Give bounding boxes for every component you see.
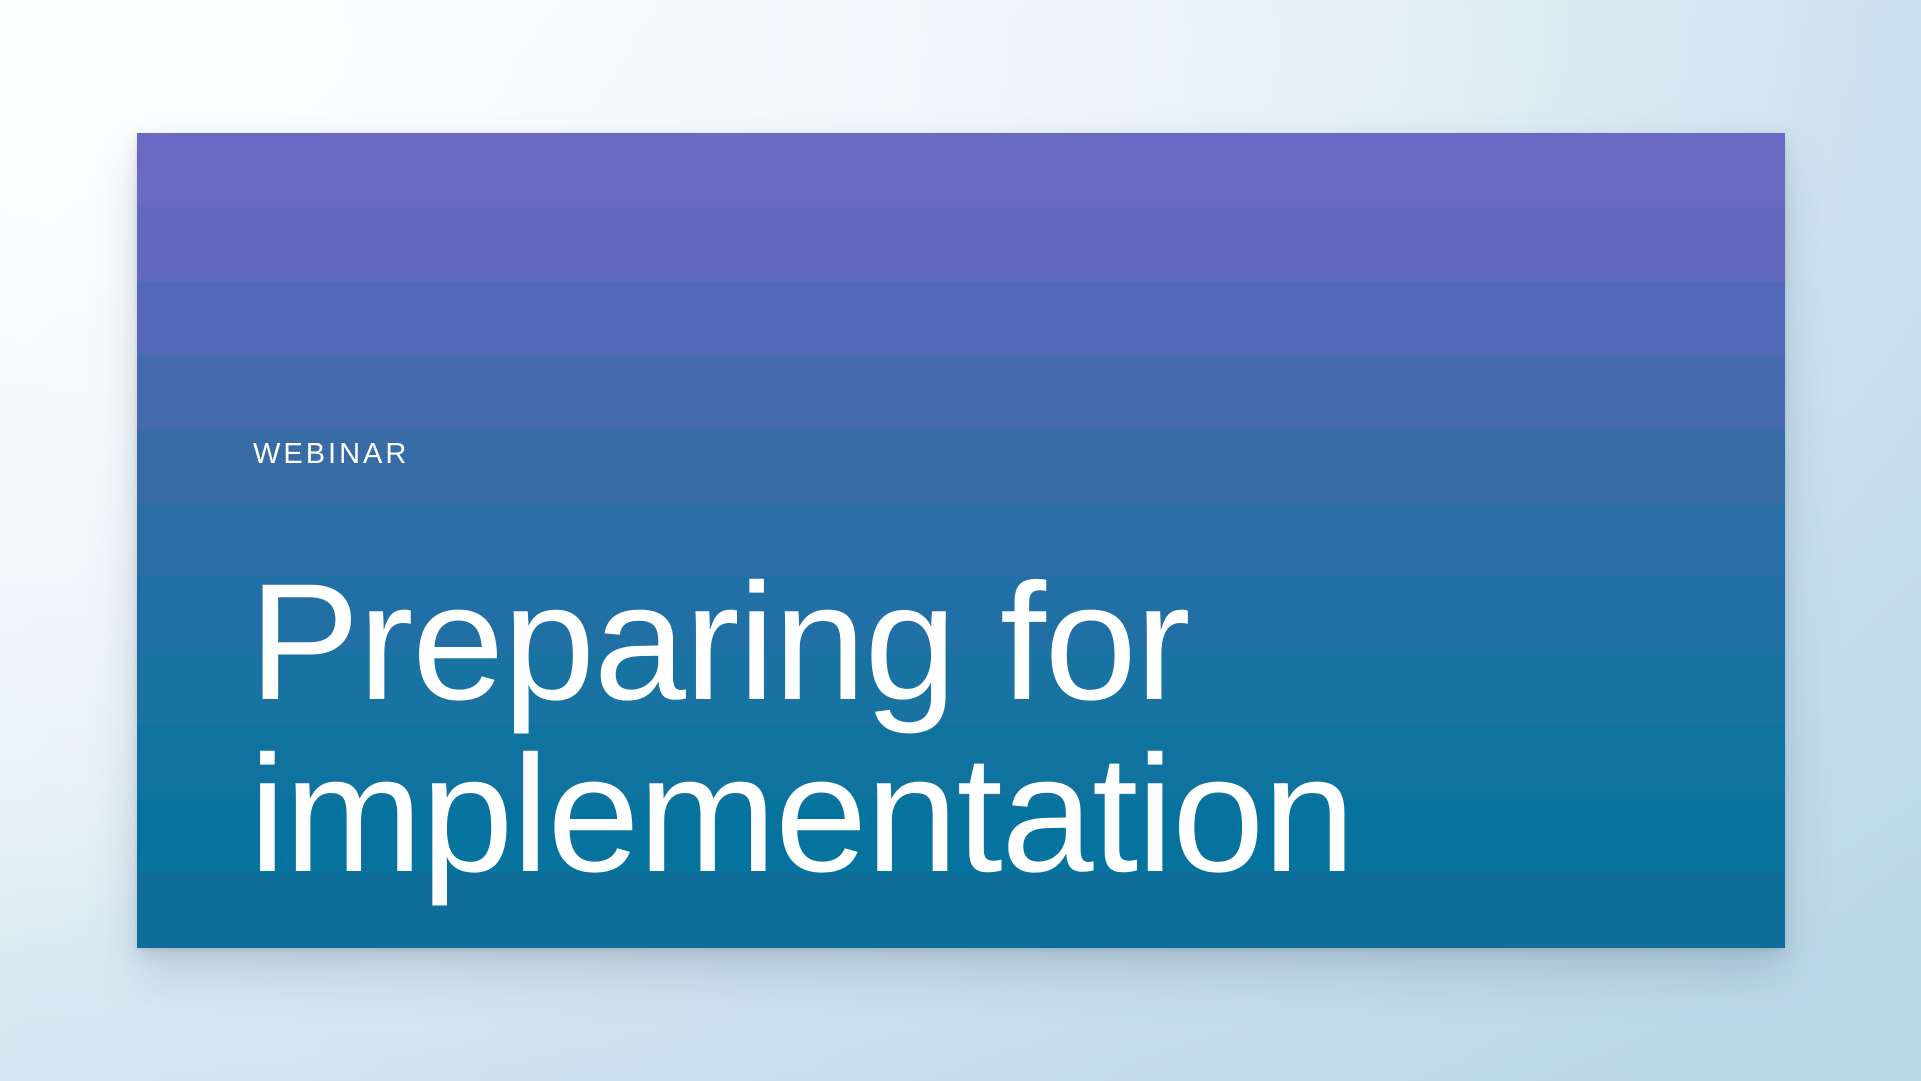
page-title: Preparing for implementation: [249, 557, 1669, 901]
eyebrow-label: WEBINAR: [253, 440, 409, 469]
webinar-hero-card[interactable]: WEBINAR Preparing for implementation: [137, 133, 1785, 948]
card-content: WEBINAR Preparing for implementation: [137, 133, 1785, 948]
screenshot-stage: WEBINAR Preparing for implementation: [0, 0, 1921, 1081]
